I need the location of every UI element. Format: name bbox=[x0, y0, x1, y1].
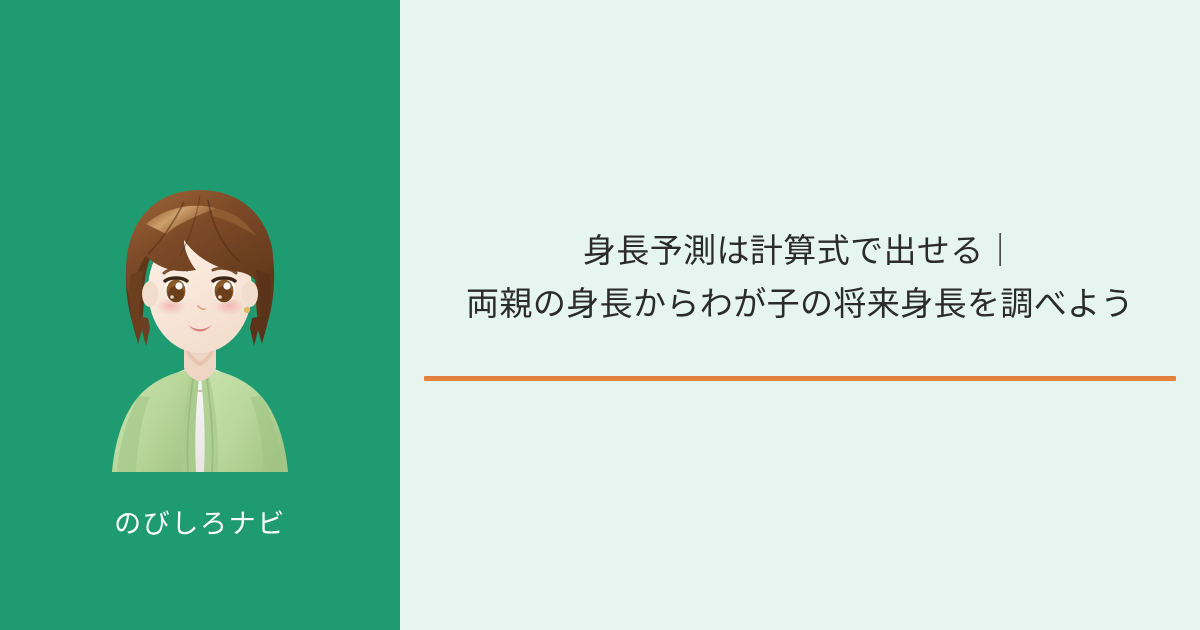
avatar bbox=[84, 178, 316, 472]
page-title: 身長予測は計算式で出せる｜ 両親の身長からわが子の将来身長を調べよう bbox=[424, 224, 1176, 331]
avatar-hair-tips-left bbox=[134, 316, 150, 346]
avatar-ear-right bbox=[242, 281, 258, 307]
brand-panel: のびしろナビ bbox=[0, 0, 400, 630]
accent-divider bbox=[424, 376, 1176, 381]
brand-name: のびしろナビ bbox=[0, 508, 400, 540]
avatar-ear-left bbox=[142, 281, 158, 307]
ogp-card: のびしろナビ 身長予測は計算式で出せる｜ 両親の身長からわが子の将来身長を調べよ… bbox=[0, 0, 1200, 630]
avatar-hair-tips-right bbox=[250, 316, 266, 346]
content-panel: 身長予測は計算式で出せる｜ 両親の身長からわが子の将来身長を調べよう bbox=[400, 0, 1200, 630]
title-line-2: 両親の身長からわが子の将来身長を調べよう bbox=[424, 277, 1176, 330]
avatar-eye-right bbox=[213, 277, 235, 303]
avatar-earring-icon bbox=[244, 307, 250, 313]
female-character-avatar-icon bbox=[84, 178, 316, 472]
title-line-1: 身長予測は計算式で出せる｜ bbox=[424, 224, 1176, 277]
avatar-eye-left bbox=[165, 277, 187, 303]
